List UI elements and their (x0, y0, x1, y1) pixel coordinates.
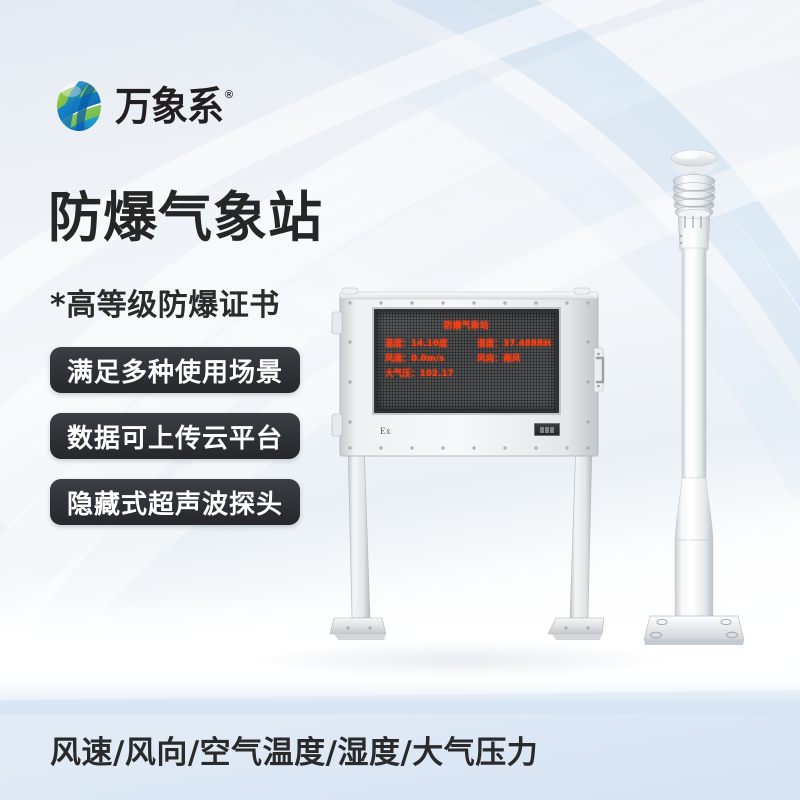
led-screen-title: 防爆气象站 (377, 319, 556, 331)
brand-name: 万象系 (115, 86, 223, 126)
mounting-flange-icon (644, 616, 744, 645)
swirl-globe-logo-icon (52, 78, 106, 134)
led-winddirection-value: 风向：南风 (477, 352, 521, 364)
feature-pill-list: 满足多种使用场景 数据可上传云平台 隐藏式超声波探头 (50, 347, 300, 525)
led-row: 大气压：102.17 (385, 367, 556, 379)
page-subtitle: *高等级防爆证书 (50, 280, 280, 324)
ex-certification-marking: Ex (380, 426, 391, 436)
stand-legs (330, 442, 604, 640)
ultrasonic-sensor-head-icon (671, 150, 717, 178)
led-screen: 防爆气象站 温度：14.10度 湿度：37.488RH 风速：0.0m/s 风向… (377, 312, 556, 410)
brand-logo: 万象系 ® (52, 78, 233, 134)
ultrasonic-weather-sensor-mast (640, 148, 748, 668)
led-temperature-value: 温度：14.10度 (385, 337, 477, 349)
page-title: 防爆气象站 (48, 188, 323, 248)
product-poster: 万象系 ® 防爆气象站 *高等级防爆证书 满足多种使用场景 数据可上传云平台 隐… (0, 0, 800, 800)
bottom-banner-text: 风速/风向/空气温度/湿度/大气压力 (50, 727, 538, 772)
led-row: 温度：14.10度 湿度：37.488RH (385, 337, 556, 349)
door-handle-icon (594, 348, 603, 392)
explosion-proof-display-station: 防爆气象站 温度：14.10度 湿度：37.488RH 风速：0.0m/s 风向… (326, 282, 606, 672)
led-windspeed-value: 风速：0.0m/s (385, 352, 477, 364)
sensor-mast-graphic (640, 148, 748, 668)
mast-pole (675, 248, 713, 618)
led-humidity-value: 湿度：37.488RH (477, 337, 551, 349)
led-screen-readouts: 温度：14.10度 湿度：37.488RH 风速：0.0m/s 风向：南风 大气… (377, 337, 556, 379)
feature-pill-2: 数据可上传云平台 (50, 413, 300, 459)
feature-pill-1: 满足多种使用场景 (50, 347, 300, 393)
warning-nameplate-icon (534, 423, 560, 436)
led-pressure-value: 大气压：102.17 (385, 367, 477, 379)
feature-pill-3: 隐藏式超声波探头 (50, 479, 300, 525)
led-row: 风速：0.0m/s 风向：南风 (385, 352, 556, 364)
registered-trademark-mark: ® (225, 89, 233, 101)
sensor-body (678, 209, 710, 250)
